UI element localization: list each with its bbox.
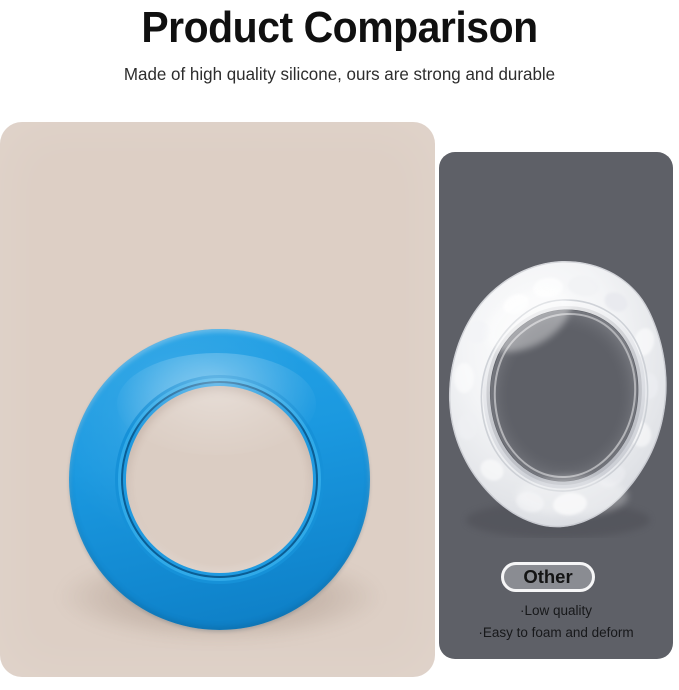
deformed-white-ring-icon	[444, 258, 672, 538]
other-badge: Other	[501, 562, 595, 592]
page-subtitle: Made of high quality silicone, ours are …	[10, 54, 669, 85]
list-item: ·Easy to foam and deform	[439, 622, 673, 644]
blue-ring-gloss	[117, 353, 316, 455]
header: Product Comparison Made of high quality …	[0, 0, 679, 85]
blue-silicone-ring-icon	[69, 329, 370, 630]
our-product-panel: Our ·High-quality silicone ·Strong and d…	[0, 122, 435, 677]
list-item: ·Low quality	[439, 600, 673, 622]
page-title: Product Comparison	[24, 0, 655, 54]
other-feature-list: ·Low quality ·Easy to foam and deform	[439, 600, 673, 644]
